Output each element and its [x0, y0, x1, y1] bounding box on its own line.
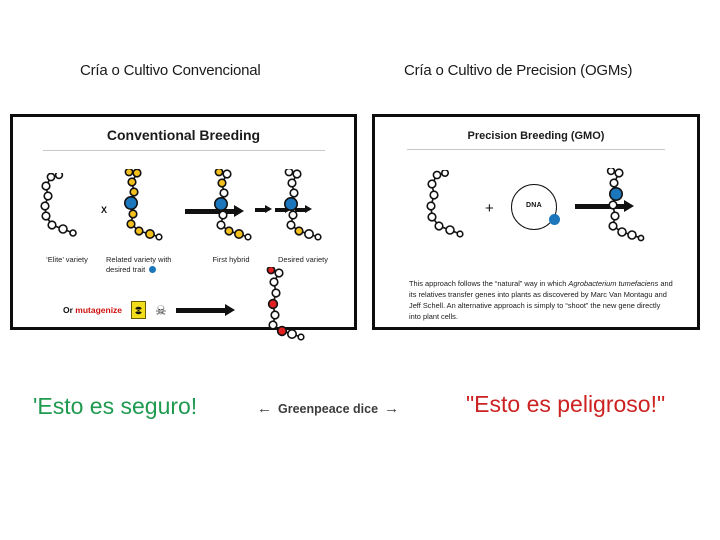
mutagenize-row: Or mutagenize ☠	[63, 301, 226, 319]
heading-conventional: Cría o Cultivo Convencional	[80, 62, 261, 79]
plasmid-label: DNA	[512, 202, 556, 209]
panel-divider-rule-precision	[407, 149, 665, 150]
panel-precision-breeding: Precision Breeding (GMO)	[372, 114, 700, 330]
mutagenize-label: Or mutagenize	[63, 305, 122, 315]
verdict-safe-text: 'Esto es seguro!	[33, 393, 197, 420]
caption-elite-variety: ‘Elite’ variety	[27, 255, 107, 265]
panel-divider-rule	[43, 150, 325, 151]
radiation-hazard-icon	[131, 301, 146, 319]
caption-first-hybrid: First hybrid	[191, 255, 271, 265]
panel-title-conventional: Conventional Breeding	[13, 127, 354, 143]
greenpeace-says-label: ← Greenpeace dice →	[257, 400, 399, 417]
cross-symbol: X	[101, 205, 107, 215]
blue-bead-legend-icon	[149, 266, 156, 273]
arrow-left-icon: ←	[257, 400, 272, 417]
plus-symbol: +	[485, 200, 494, 217]
heading-precision: Cría o Cultivo de Precision (OGMs)	[404, 62, 632, 79]
transgene-bead-icon	[549, 214, 560, 225]
precision-explanation-paragraph: This approach follows the “natural” way …	[409, 278, 673, 322]
arrow-right-icon: →	[384, 400, 399, 417]
caption-desired-variety: Desired variety	[261, 255, 345, 265]
arrow-small-1	[255, 208, 266, 212]
greenpeace-label-text: Greenpeace dice	[278, 402, 378, 416]
panel-title-precision: Precision Breeding (GMO)	[375, 130, 697, 142]
caption-related-variety: Related variety with desired trait	[106, 255, 192, 275]
plasmid-circle: DNA	[511, 184, 557, 230]
arrow-mutagenize-result	[176, 308, 226, 313]
skull-crossbones-icon: ☠	[155, 304, 167, 317]
panel-conventional-breeding: Conventional Breeding	[10, 114, 357, 330]
verdict-dangerous-text: "Esto es peligroso!"	[466, 391, 665, 418]
